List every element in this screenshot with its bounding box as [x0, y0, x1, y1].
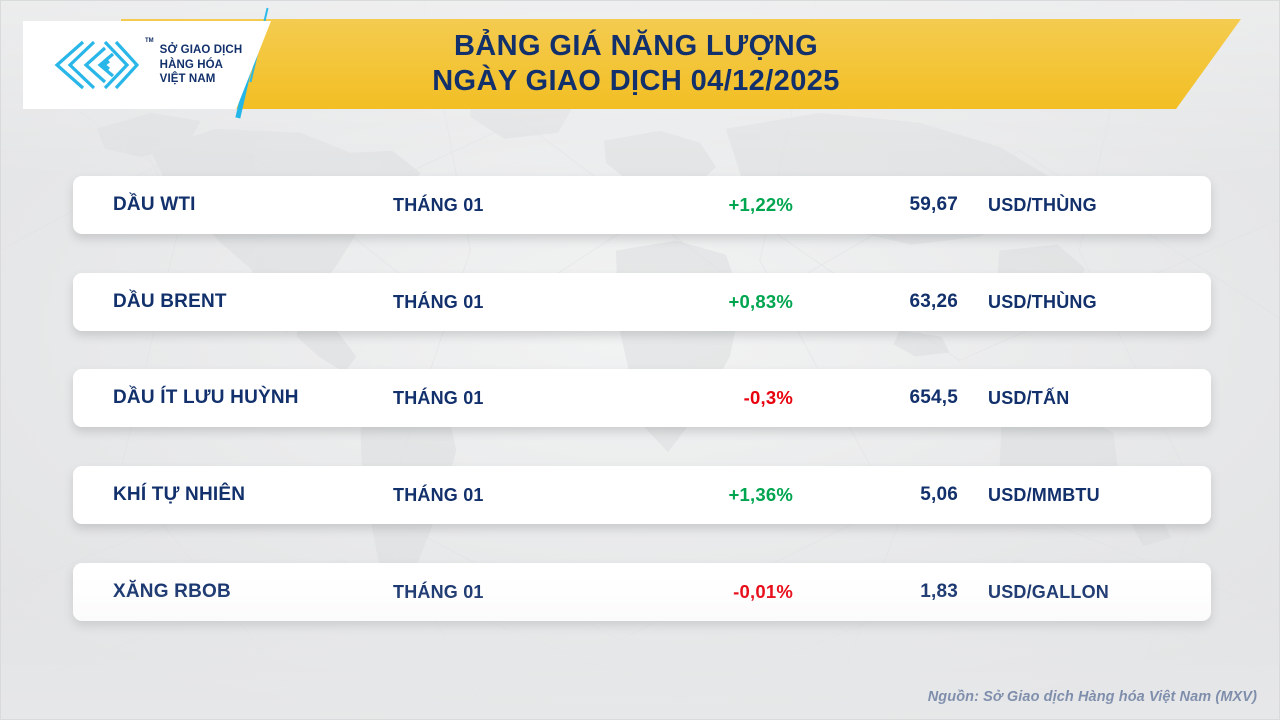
mxv-chevron-logo-icon — [53, 39, 139, 91]
contract-month: THÁNG 01 — [393, 485, 578, 506]
change-percent: -0,3% — [578, 387, 793, 409]
brand-line-2: HÀNG HÓA — [160, 58, 243, 73]
price-value: 5,06 — [793, 484, 958, 506]
table-row[interactable]: DẦU BRENTTHÁNG 01+0,83%63,26USD/THÙNG — [73, 273, 1211, 331]
price-value: 654,5 — [793, 387, 958, 409]
price-unit: USD/MMBTU — [958, 485, 1211, 506]
price-value: 63,26 — [793, 291, 958, 313]
commodity-name: DẦU BRENT — [73, 291, 393, 313]
price-unit: USD/TẤN — [958, 388, 1211, 409]
commodity-name: KHÍ TỰ NHIÊN — [73, 484, 393, 506]
change-percent: +0,83% — [578, 291, 793, 313]
price-value: 1,83 — [793, 581, 958, 603]
price-unit: USD/GALLON — [958, 582, 1211, 603]
table-row[interactable]: DẦU WTITHÁNG 01+1,22%59,67USD/THÙNG — [73, 176, 1211, 234]
page-title: BẢNG GIÁ NĂNG LƯỢNG NGÀY GIAO DỊCH 04/12… — [216, 19, 1056, 109]
brand-logo[interactable]: TM SỞ GIAO DỊCH HÀNG HÓA VIỆT NAM — [23, 21, 271, 109]
trademark-label: TM — [145, 38, 154, 44]
title-line-2: NGÀY GIAO DỊCH 04/12/2025 — [432, 65, 840, 98]
price-value: 59,67 — [793, 194, 958, 216]
price-unit: USD/THÙNG — [958, 292, 1211, 313]
title-line-1: BẢNG GIÁ NĂNG LƯỢNG — [454, 30, 818, 63]
table-row[interactable]: DẦU ÍT LƯU HUỲNHTHÁNG 01-0,3%654,5USD/TẤ… — [73, 369, 1211, 427]
change-percent: +1,22% — [578, 194, 793, 216]
table-row[interactable]: KHÍ TỰ NHIÊNTHÁNG 01+1,36%5,06USD/MMBTU — [73, 466, 1211, 524]
commodity-name: DẦU ÍT LƯU HUỲNH — [73, 387, 393, 409]
commodity-name: DẦU WTI — [73, 194, 393, 216]
contract-month: THÁNG 01 — [393, 195, 578, 216]
contract-month: THÁNG 01 — [393, 292, 578, 313]
change-percent: -0,01% — [578, 581, 793, 603]
source-note: Nguồn: Sở Giao dịch Hàng hóa Việt Nam (M… — [928, 689, 1257, 705]
table-row[interactable]: XĂNG RBOBTHÁNG 01-0,01%1,83USD/GALLON — [73, 563, 1211, 621]
brand-line-3: VIỆT NAM — [160, 72, 243, 87]
commodity-name: XĂNG RBOB — [73, 581, 393, 603]
page-header: TM SỞ GIAO DỊCH HÀNG HÓA VIỆT NAM BẢNG G… — [1, 1, 1280, 119]
energy-price-board: TM SỞ GIAO DỊCH HÀNG HÓA VIỆT NAM BẢNG G… — [0, 0, 1280, 720]
price-unit: USD/THÙNG — [958, 195, 1211, 216]
contract-month: THÁNG 01 — [393, 388, 578, 409]
brand-line-1: SỞ GIAO DỊCH — [160, 43, 243, 58]
contract-month: THÁNG 01 — [393, 582, 578, 603]
change-percent: +1,36% — [578, 484, 793, 506]
brand-wordmark: SỞ GIAO DỊCH HÀNG HÓA VIỆT NAM — [160, 43, 243, 87]
